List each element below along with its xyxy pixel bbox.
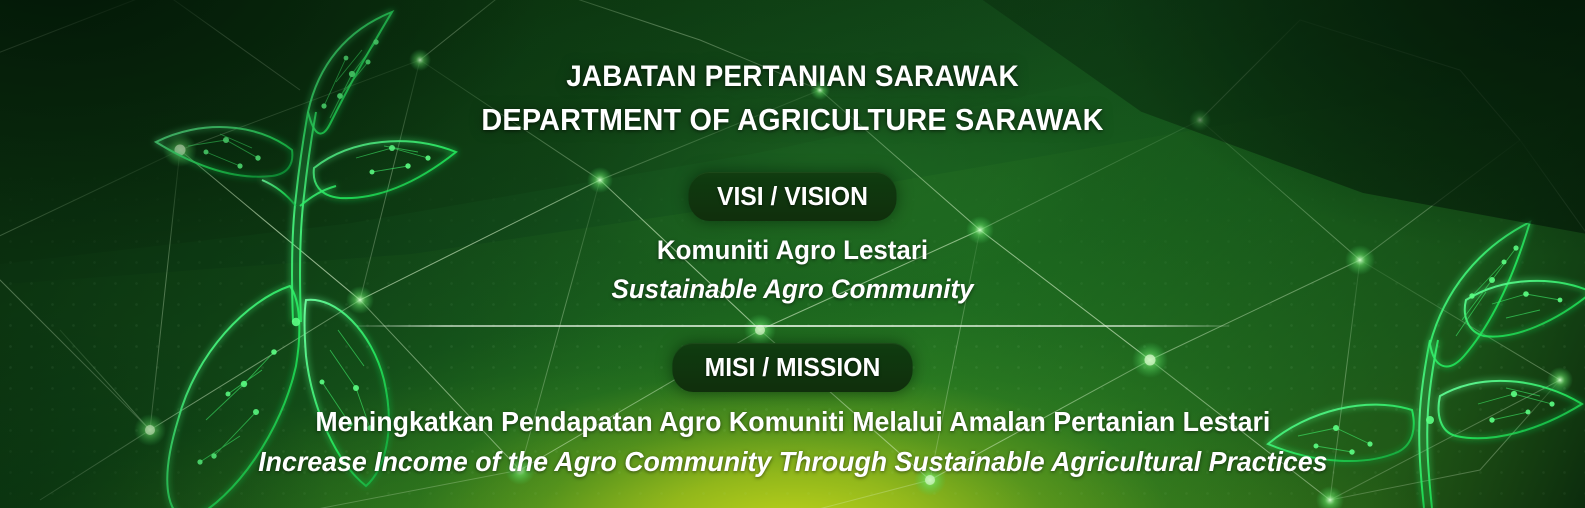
vision-section: VISI / VISION Komuniti Agro Lestari Sust… [604, 172, 981, 307]
section-divider [357, 325, 1229, 327]
org-name-english: DEPARTMENT OF AGRICULTURE SARAWAK [481, 98, 1103, 141]
vision-statement-english: Sustainable Agro Community [612, 271, 974, 307]
mission-badge: MISI / MISSION [672, 343, 912, 392]
vision-mission-banner: JABATAN PERTANIAN SARAWAK DEPARTMENT OF … [0, 0, 1585, 508]
vision-statement-malay: Komuniti Agro Lestari [612, 232, 974, 268]
mission-statement-malay: Meningkatkan Pendapatan Agro Komuniti Me… [258, 404, 1327, 440]
mission-statement-english: Increase Income of the Agro Community Th… [258, 444, 1327, 480]
org-name-malay: JABATAN PERTANIAN SARAWAK [481, 55, 1103, 98]
organization-title: JABATAN PERTANIAN SARAWAK DEPARTMENT OF … [458, 55, 1127, 141]
vision-badge: VISI / VISION [688, 172, 896, 221]
mission-section: MISI / MISSION Meningkatkan Pendapatan A… [233, 343, 1353, 480]
